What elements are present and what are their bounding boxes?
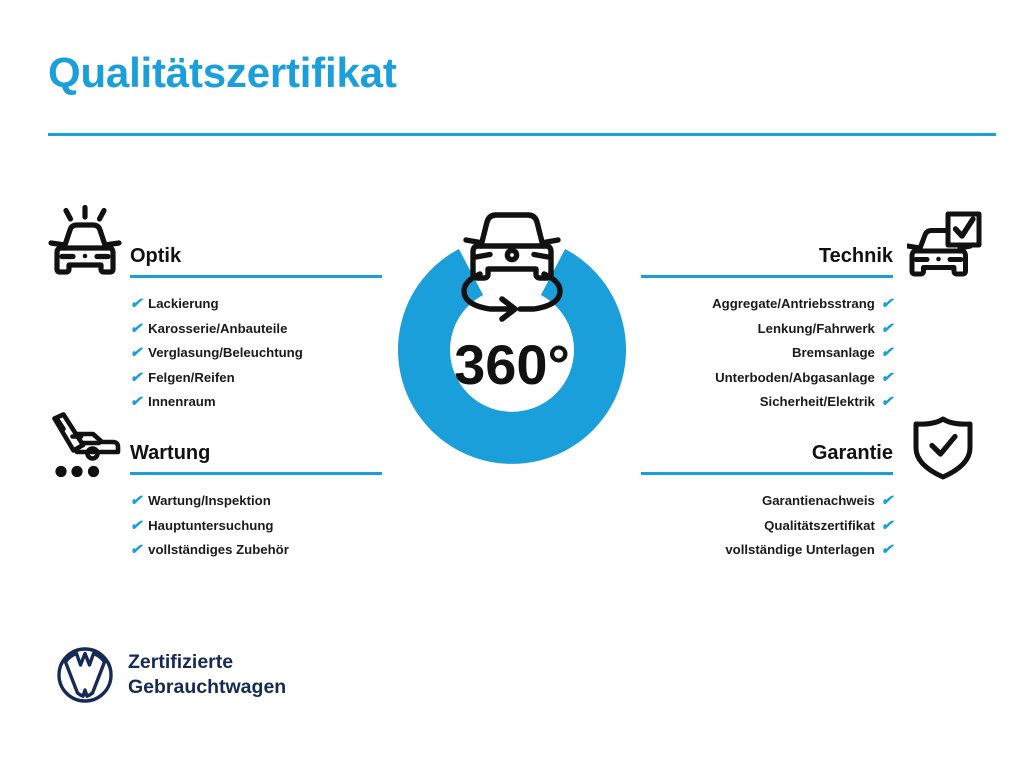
list-item: ✔ Wartung/Inspektion: [130, 489, 382, 514]
check-icon: ✔: [130, 293, 142, 317]
footer-brand-line1: Zertifizierte: [128, 650, 286, 675]
car-front-lights-icon: [47, 205, 123, 279]
list-item-label: Verglasung/Beleuchtung: [148, 341, 303, 365]
car-front-checkbox-icon: [907, 211, 983, 279]
list-item-label: Garantienachweis: [762, 489, 875, 513]
list-item: ✔ Innenraum: [130, 390, 382, 415]
list-item: ✔ Garantienachweis: [641, 489, 893, 514]
check-icon: ✔: [881, 539, 893, 563]
list-item: ✔ Karosserie/Anbauteile: [130, 317, 382, 342]
section-wartung: Wartung ✔ Wartung/Inspektion ✔ Hauptunte…: [130, 429, 382, 563]
list-item: ✔ Sicherheit/Elektrik: [641, 390, 893, 415]
badge-360-gebrauchtwagen-check: Gebrauchtwagen-Check 360°: [368, 188, 656, 488]
footer-brand: Zertifizierte Gebrauchtwagen: [56, 646, 286, 704]
badge-center-label: 360°: [454, 333, 570, 396]
pencil-car-service-icon: [47, 412, 123, 480]
section-technik-header: Technik: [641, 232, 893, 278]
list-item-label: Unterboden/Abgasanlage: [715, 366, 875, 390]
section-wartung-items: ✔ Wartung/Inspektion ✔ Hauptuntersuchung…: [130, 489, 382, 563]
list-item-label: vollständiges Zubehör: [148, 538, 289, 562]
list-item-label: vollständige Unterlagen: [725, 538, 875, 562]
check-icon: ✔: [881, 490, 893, 514]
car-rotate-icon: [464, 215, 560, 319]
footer-brand-text: Zertifizierte Gebrauchtwagen: [128, 650, 286, 700]
section-garantie-header: Garantie: [641, 429, 893, 475]
section-optik-items: ✔ Lackierung ✔ Karosserie/Anbauteile ✔ V…: [130, 292, 382, 415]
list-item-label: Felgen/Reifen: [148, 366, 234, 390]
list-item-label: Wartung/Inspektion: [148, 489, 271, 513]
section-optik: Optik ✔ Lackierung ✔ Karosserie/Anbautei…: [130, 232, 382, 415]
shield-check-icon: [912, 416, 974, 480]
check-icon: ✔: [881, 293, 893, 317]
list-item-label: Hauptuntersuchung: [148, 514, 273, 538]
check-icon: ✔: [130, 391, 142, 415]
list-item: ✔ Verglasung/Beleuchtung: [130, 341, 382, 366]
section-technik-underline: [641, 275, 893, 278]
list-item-label: Sicherheit/Elektrik: [760, 390, 875, 414]
check-icon: ✔: [130, 318, 142, 342]
section-wartung-underline: [130, 472, 382, 475]
list-item: ✔ Lackierung: [130, 292, 382, 317]
list-item: ✔ Aggregate/Antriebsstrang: [641, 292, 893, 317]
section-optik-header: Optik: [130, 232, 382, 278]
section-optik-title: Optik: [130, 245, 181, 268]
list-item: ✔ Qualitätszertifikat: [641, 514, 893, 539]
list-item: ✔ Lenkung/Fahrwerk: [641, 317, 893, 342]
check-icon: ✔: [130, 342, 142, 366]
section-garantie-title: Garantie: [812, 442, 893, 465]
check-icon: ✔: [130, 367, 142, 391]
list-item: ✔ vollständige Unterlagen: [641, 538, 893, 563]
section-garantie: Garantie ✔ Garantienachweis ✔ Qualitätsz…: [641, 429, 893, 563]
check-icon: ✔: [881, 391, 893, 415]
list-item-label: Lackierung: [148, 292, 218, 316]
check-icon: ✔: [130, 515, 142, 539]
section-technik-items: ✔ Aggregate/Antriebsstrang ✔ Lenkung/Fah…: [641, 292, 893, 415]
list-item: ✔ Felgen/Reifen: [130, 366, 382, 391]
certificate-page: Qualitätszertifikat Optik ✔ Lackierung ✔…: [0, 0, 1024, 768]
section-technik: Technik ✔ Aggregate/Antriebsstrang ✔ Len…: [641, 232, 893, 415]
section-wartung-header: Wartung: [130, 429, 382, 475]
vw-logo: [56, 646, 114, 704]
list-item-label: Lenkung/Fahrwerk: [758, 317, 875, 341]
check-icon: ✔: [881, 342, 893, 366]
check-icon: ✔: [881, 515, 893, 539]
footer-brand-line2: Gebrauchtwagen: [128, 675, 286, 700]
page-title: Qualitätszertifikat: [48, 52, 397, 94]
check-icon: ✔: [130, 539, 142, 563]
check-icon: ✔: [130, 490, 142, 514]
list-item-label: Innenraum: [148, 390, 215, 414]
section-wartung-title: Wartung: [130, 442, 210, 465]
check-icon: ✔: [881, 367, 893, 391]
title-divider: [48, 133, 996, 136]
section-garantie-underline: [641, 472, 893, 475]
list-item: ✔ vollständiges Zubehör: [130, 538, 382, 563]
list-item: ✔ Unterboden/Abgasanlage: [641, 366, 893, 391]
list-item-label: Qualitätszertifikat: [764, 514, 875, 538]
list-item: ✔ Hauptuntersuchung: [130, 514, 382, 539]
list-item-label: Aggregate/Antriebsstrang: [712, 292, 875, 316]
list-item-label: Bremsanlage: [792, 341, 875, 365]
list-item-label: Karosserie/Anbauteile: [148, 317, 287, 341]
check-icon: ✔: [881, 318, 893, 342]
section-optik-underline: [130, 275, 382, 278]
section-garantie-items: ✔ Garantienachweis ✔ Qualitätszertifikat…: [641, 489, 893, 563]
list-item: ✔ Bremsanlage: [641, 341, 893, 366]
section-technik-title: Technik: [819, 245, 893, 268]
